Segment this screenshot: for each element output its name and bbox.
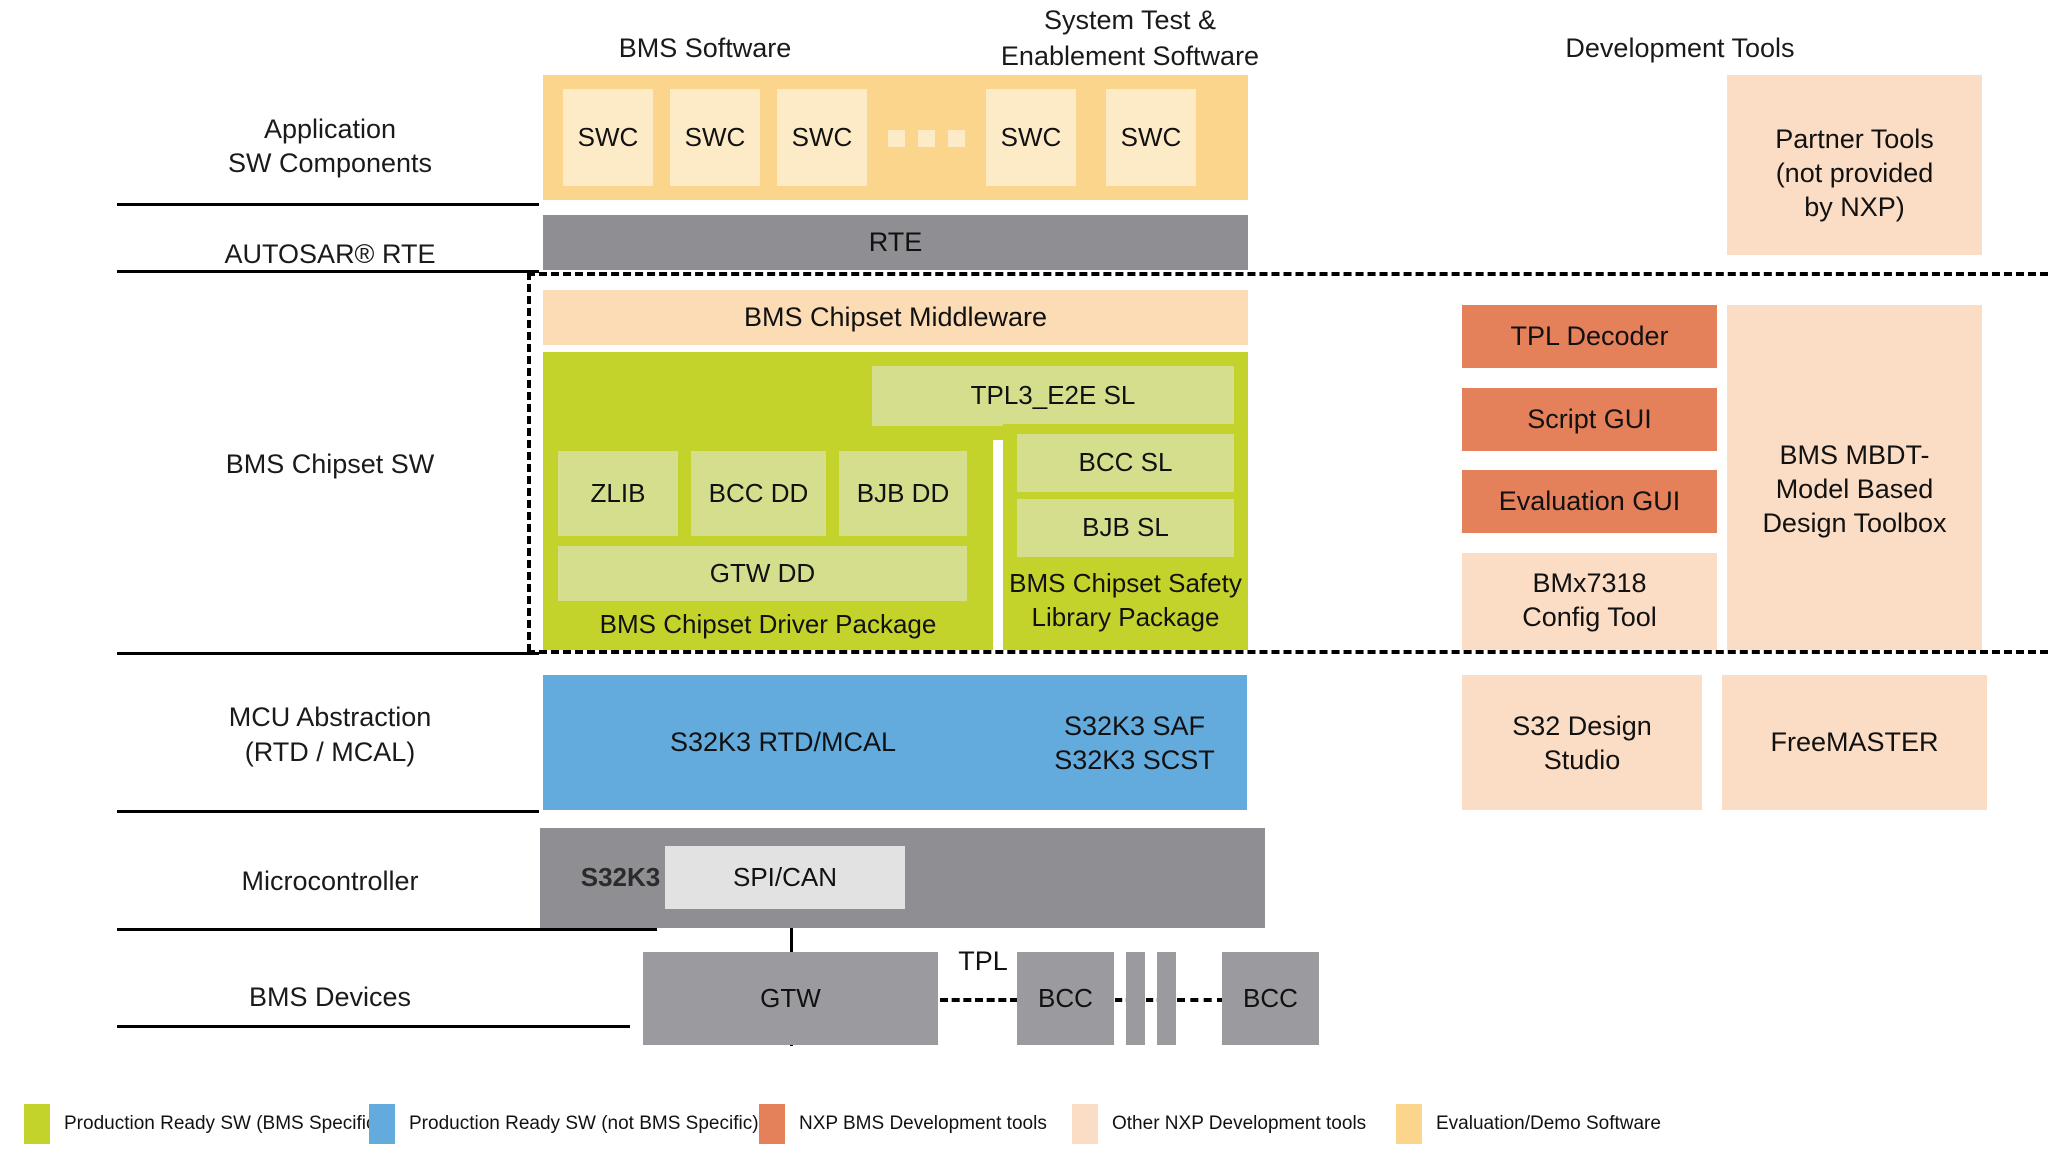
device-bcc-2[interactable]: BCC bbox=[1222, 952, 1319, 1045]
column-header-development-tools: Development Tools bbox=[1510, 30, 1850, 66]
partner-tools-line3: by NXP) bbox=[1727, 190, 1982, 224]
architecture-diagram: BMS Software System Test & Enablement So… bbox=[0, 0, 2048, 1152]
legend-label-1: Production Ready SW (BMS Specific) bbox=[64, 1113, 382, 1135]
swc-box-3[interactable]: SWC bbox=[777, 89, 867, 186]
partner-tools-line1: Partner Tools bbox=[1727, 122, 1982, 156]
safety-item-bjb-sl[interactable]: BJB SL bbox=[1017, 499, 1234, 557]
config-tool-line1: BMx7318 bbox=[1462, 566, 1717, 600]
driver-package-title: BMS Chipset Driver Package bbox=[553, 607, 983, 643]
bms-chipset-safety-library-package[interactable]: BCC SL BJB SL BMS Chipset Safety Library… bbox=[1003, 424, 1248, 650]
column-header-system-test-line1: System Test & bbox=[960, 2, 1300, 38]
mbdt-line1: BMS MBDT- bbox=[1727, 438, 1982, 472]
s32-design-line1: S32 Design bbox=[1462, 709, 1702, 743]
row-label-mcu-abstraction-line1: MCU Abstraction bbox=[175, 700, 485, 734]
partner-tools-block[interactable]: Partner Tools (not provided by NXP) bbox=[1727, 75, 1982, 255]
s32-design-line2: Studio bbox=[1462, 743, 1702, 777]
mbdt-line3: Design Toolbox bbox=[1727, 506, 1982, 540]
legend: Production Ready SW (BMS Specific) Produ… bbox=[24, 1104, 2024, 1146]
tpl-decoder-block[interactable]: TPL Decoder bbox=[1462, 305, 1717, 368]
scope-boundary-left bbox=[527, 272, 531, 652]
device-bcc-1[interactable]: BCC bbox=[1017, 952, 1114, 1045]
safety-package-title-line2: Library Package bbox=[1007, 601, 1244, 635]
swc-box-1[interactable]: SWC bbox=[563, 89, 653, 186]
legend-label-2: Production Ready SW (not BMS Specific) bbox=[409, 1113, 759, 1135]
legend-swatch-1 bbox=[24, 1104, 50, 1144]
swc-box-2[interactable]: SWC bbox=[670, 89, 760, 186]
application-sw-band: SWC SWC SWC SWC SWC bbox=[543, 75, 1248, 200]
safety-item-tpl3-e2e-sl[interactable]: TPL3_E2E SL bbox=[872, 366, 1234, 426]
tpl-dashed-link-1 bbox=[940, 998, 1018, 1002]
device-stub-2 bbox=[1157, 952, 1176, 1045]
scope-boundary-bottom bbox=[527, 650, 2048, 654]
microcontroller-block[interactable]: S32K3 SPI/CAN bbox=[540, 828, 1265, 928]
legend-swatch-3 bbox=[759, 1104, 785, 1144]
script-gui-block[interactable]: Script GUI bbox=[1462, 388, 1717, 451]
spi-can-block[interactable]: SPI/CAN bbox=[665, 846, 905, 909]
divider-bms-devices bbox=[117, 1025, 630, 1028]
row-label-autosar-rte: AUTOSAR® RTE bbox=[175, 237, 485, 271]
divider-application bbox=[117, 203, 539, 206]
divider-mcu-abstraction bbox=[117, 810, 539, 813]
divider-microcontroller bbox=[117, 928, 657, 931]
bms-mbdt-toolbox-block[interactable]: BMS MBDT- Model Based Design Toolbox bbox=[1727, 305, 1982, 650]
driver-item-bjb-dd[interactable]: BJB DD bbox=[839, 451, 967, 536]
s32k3-rtd-mcal-block[interactable]: S32K3 RTD/MCAL bbox=[543, 675, 1023, 810]
row-label-application-line2: SW Components bbox=[175, 146, 485, 180]
rte-block[interactable]: RTE bbox=[543, 215, 1248, 270]
divider-chipset bbox=[117, 652, 539, 655]
tpl-dashed-link-4 bbox=[1177, 998, 1225, 1002]
scope-boundary-top bbox=[527, 272, 2048, 276]
legend-label-5: Evaluation/Demo Software bbox=[1436, 1113, 1661, 1135]
s32k3-saf-scst-block[interactable]: S32K3 SAF S32K3 SCST bbox=[1022, 675, 1247, 810]
legend-swatch-2 bbox=[369, 1104, 395, 1144]
mbdt-line2: Model Based bbox=[1727, 472, 1982, 506]
legend-label-4: Other NXP Development tools bbox=[1112, 1113, 1366, 1135]
swc-box-5[interactable]: SWC bbox=[1106, 89, 1196, 186]
bms-chipset-middleware-block[interactable]: BMS Chipset Middleware bbox=[543, 290, 1248, 345]
legend-swatch-5 bbox=[1396, 1104, 1422, 1144]
s32-design-studio-block[interactable]: S32 Design Studio bbox=[1462, 675, 1702, 810]
row-label-bms-devices: BMS Devices bbox=[175, 980, 485, 1014]
evaluation-gui-block[interactable]: Evaluation GUI bbox=[1462, 470, 1717, 533]
device-gtw[interactable]: GTW bbox=[643, 952, 938, 1045]
row-label-application-line1: Application bbox=[175, 112, 485, 146]
column-header-bms-software: BMS Software bbox=[545, 30, 865, 66]
column-header-system-test-line2: Enablement Software bbox=[960, 38, 1300, 74]
device-stub-1 bbox=[1126, 952, 1145, 1045]
tpl-link-label: TPL bbox=[938, 944, 1028, 978]
legend-swatch-4 bbox=[1072, 1104, 1098, 1144]
divider-rte bbox=[117, 270, 539, 273]
safety-package-title-line1: BMS Chipset Safety bbox=[1007, 567, 1244, 601]
driver-item-gtw-dd[interactable]: GTW DD bbox=[558, 546, 967, 601]
partner-tools-line2: (not provided bbox=[1727, 156, 1982, 190]
ellipsis-dot-3 bbox=[948, 130, 965, 147]
row-label-mcu-abstraction-line2: (RTD / MCAL) bbox=[175, 735, 485, 769]
safety-item-bcc-sl[interactable]: BCC SL bbox=[1017, 434, 1234, 492]
s32k3-scst-label: S32K3 SCST bbox=[1022, 743, 1247, 777]
s32k3-saf-label: S32K3 SAF bbox=[1022, 709, 1247, 743]
bmx7318-config-tool-block[interactable]: BMx7318 Config Tool bbox=[1462, 553, 1717, 650]
driver-item-zlib[interactable]: ZLIB bbox=[558, 451, 678, 536]
legend-label-3: NXP BMS Development tools bbox=[799, 1113, 1047, 1135]
ellipsis-dot-2 bbox=[918, 130, 935, 147]
config-tool-line2: Config Tool bbox=[1462, 600, 1717, 634]
ellipsis-dot-1 bbox=[888, 130, 905, 147]
freemaster-block[interactable]: FreeMASTER bbox=[1722, 675, 1987, 810]
driver-item-bcc-dd[interactable]: BCC DD bbox=[691, 451, 826, 536]
row-label-bms-chipset-sw: BMS Chipset SW bbox=[175, 447, 485, 481]
swc-box-4[interactable]: SWC bbox=[986, 89, 1076, 186]
row-label-microcontroller: Microcontroller bbox=[175, 864, 485, 898]
